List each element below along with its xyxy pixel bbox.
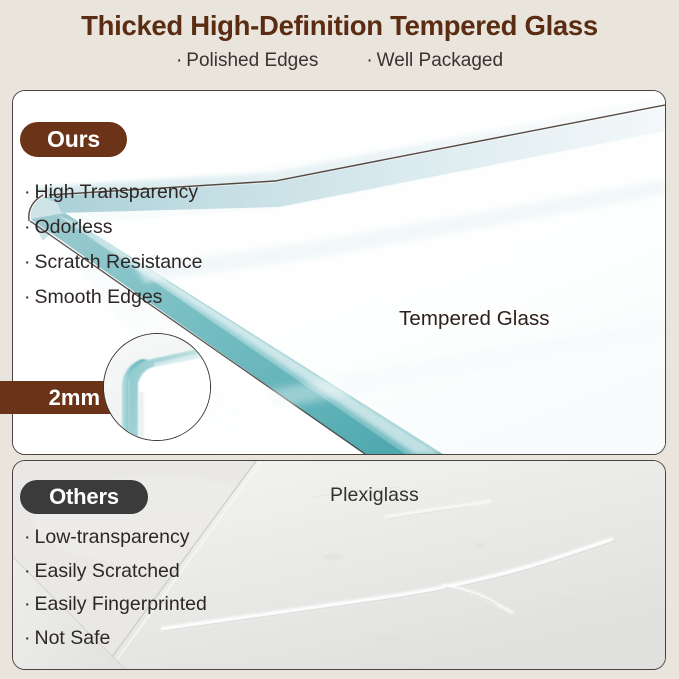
feature-label: Easily Scratched [35, 560, 180, 582]
subtitle-label: Well Packaged [377, 50, 503, 71]
list-item: ·Scratch Resistance [24, 253, 203, 273]
list-item: ·Not Safe [24, 629, 207, 649]
infographic-root: Thicked High-Definition Tempered Glass ·… [0, 0, 679, 679]
bullet-icon: · [24, 216, 31, 238]
bullet-icon: · [24, 593, 31, 615]
list-item: ·Odorless [24, 218, 203, 238]
feature-label: Scratch Resistance [35, 251, 203, 273]
feature-label: Low-transparency [35, 526, 190, 548]
bullet-icon: · [24, 181, 31, 203]
bullet-icon: · [24, 560, 31, 582]
subtitle-item-polished-edges: ·Polished Edges [176, 50, 318, 72]
bullet-icon: · [366, 50, 372, 71]
subtitle-label: Polished Edges [186, 50, 318, 71]
list-item: ·Low-transparency [24, 528, 207, 548]
tempered-glass-label: Tempered Glass [399, 307, 550, 331]
feature-label: High Transparency [35, 181, 199, 203]
bullet-icon: · [24, 286, 31, 308]
feature-label: Easily Fingerprinted [35, 593, 207, 615]
bullet-icon: · [176, 50, 182, 71]
feature-label: Smooth Edges [35, 286, 163, 308]
subtitle-row: ·Polished Edges ·Well Packaged [0, 50, 679, 72]
subtitle-item-well-packaged: ·Well Packaged [366, 50, 503, 72]
page-title: Thicked High-Definition Tempered Glass [0, 10, 679, 42]
list-item: ·Easily Fingerprinted [24, 595, 207, 615]
list-item: ·Smooth Edges [24, 288, 203, 308]
bullet-icon: · [24, 526, 31, 548]
list-item: ·High Transparency [24, 183, 203, 203]
list-item: ·Easily Scratched [24, 562, 207, 582]
bullet-icon: · [24, 627, 31, 649]
others-feature-list: ·Low-transparency ·Easily Scratched ·Eas… [24, 528, 207, 648]
feature-label: Odorless [35, 216, 113, 238]
bullet-icon: · [24, 251, 31, 273]
feature-label: Not Safe [35, 627, 111, 649]
badge-ours: Ours [20, 122, 127, 157]
header: Thicked High-Definition Tempered Glass ·… [0, 0, 679, 88]
badge-others: Others [20, 480, 148, 514]
plexiglass-label: Plexiglass [330, 484, 419, 507]
ours-feature-list: ·High Transparency ·Odorless ·Scratch Re… [24, 183, 203, 308]
edge-detail-zoom-circle [103, 333, 211, 441]
